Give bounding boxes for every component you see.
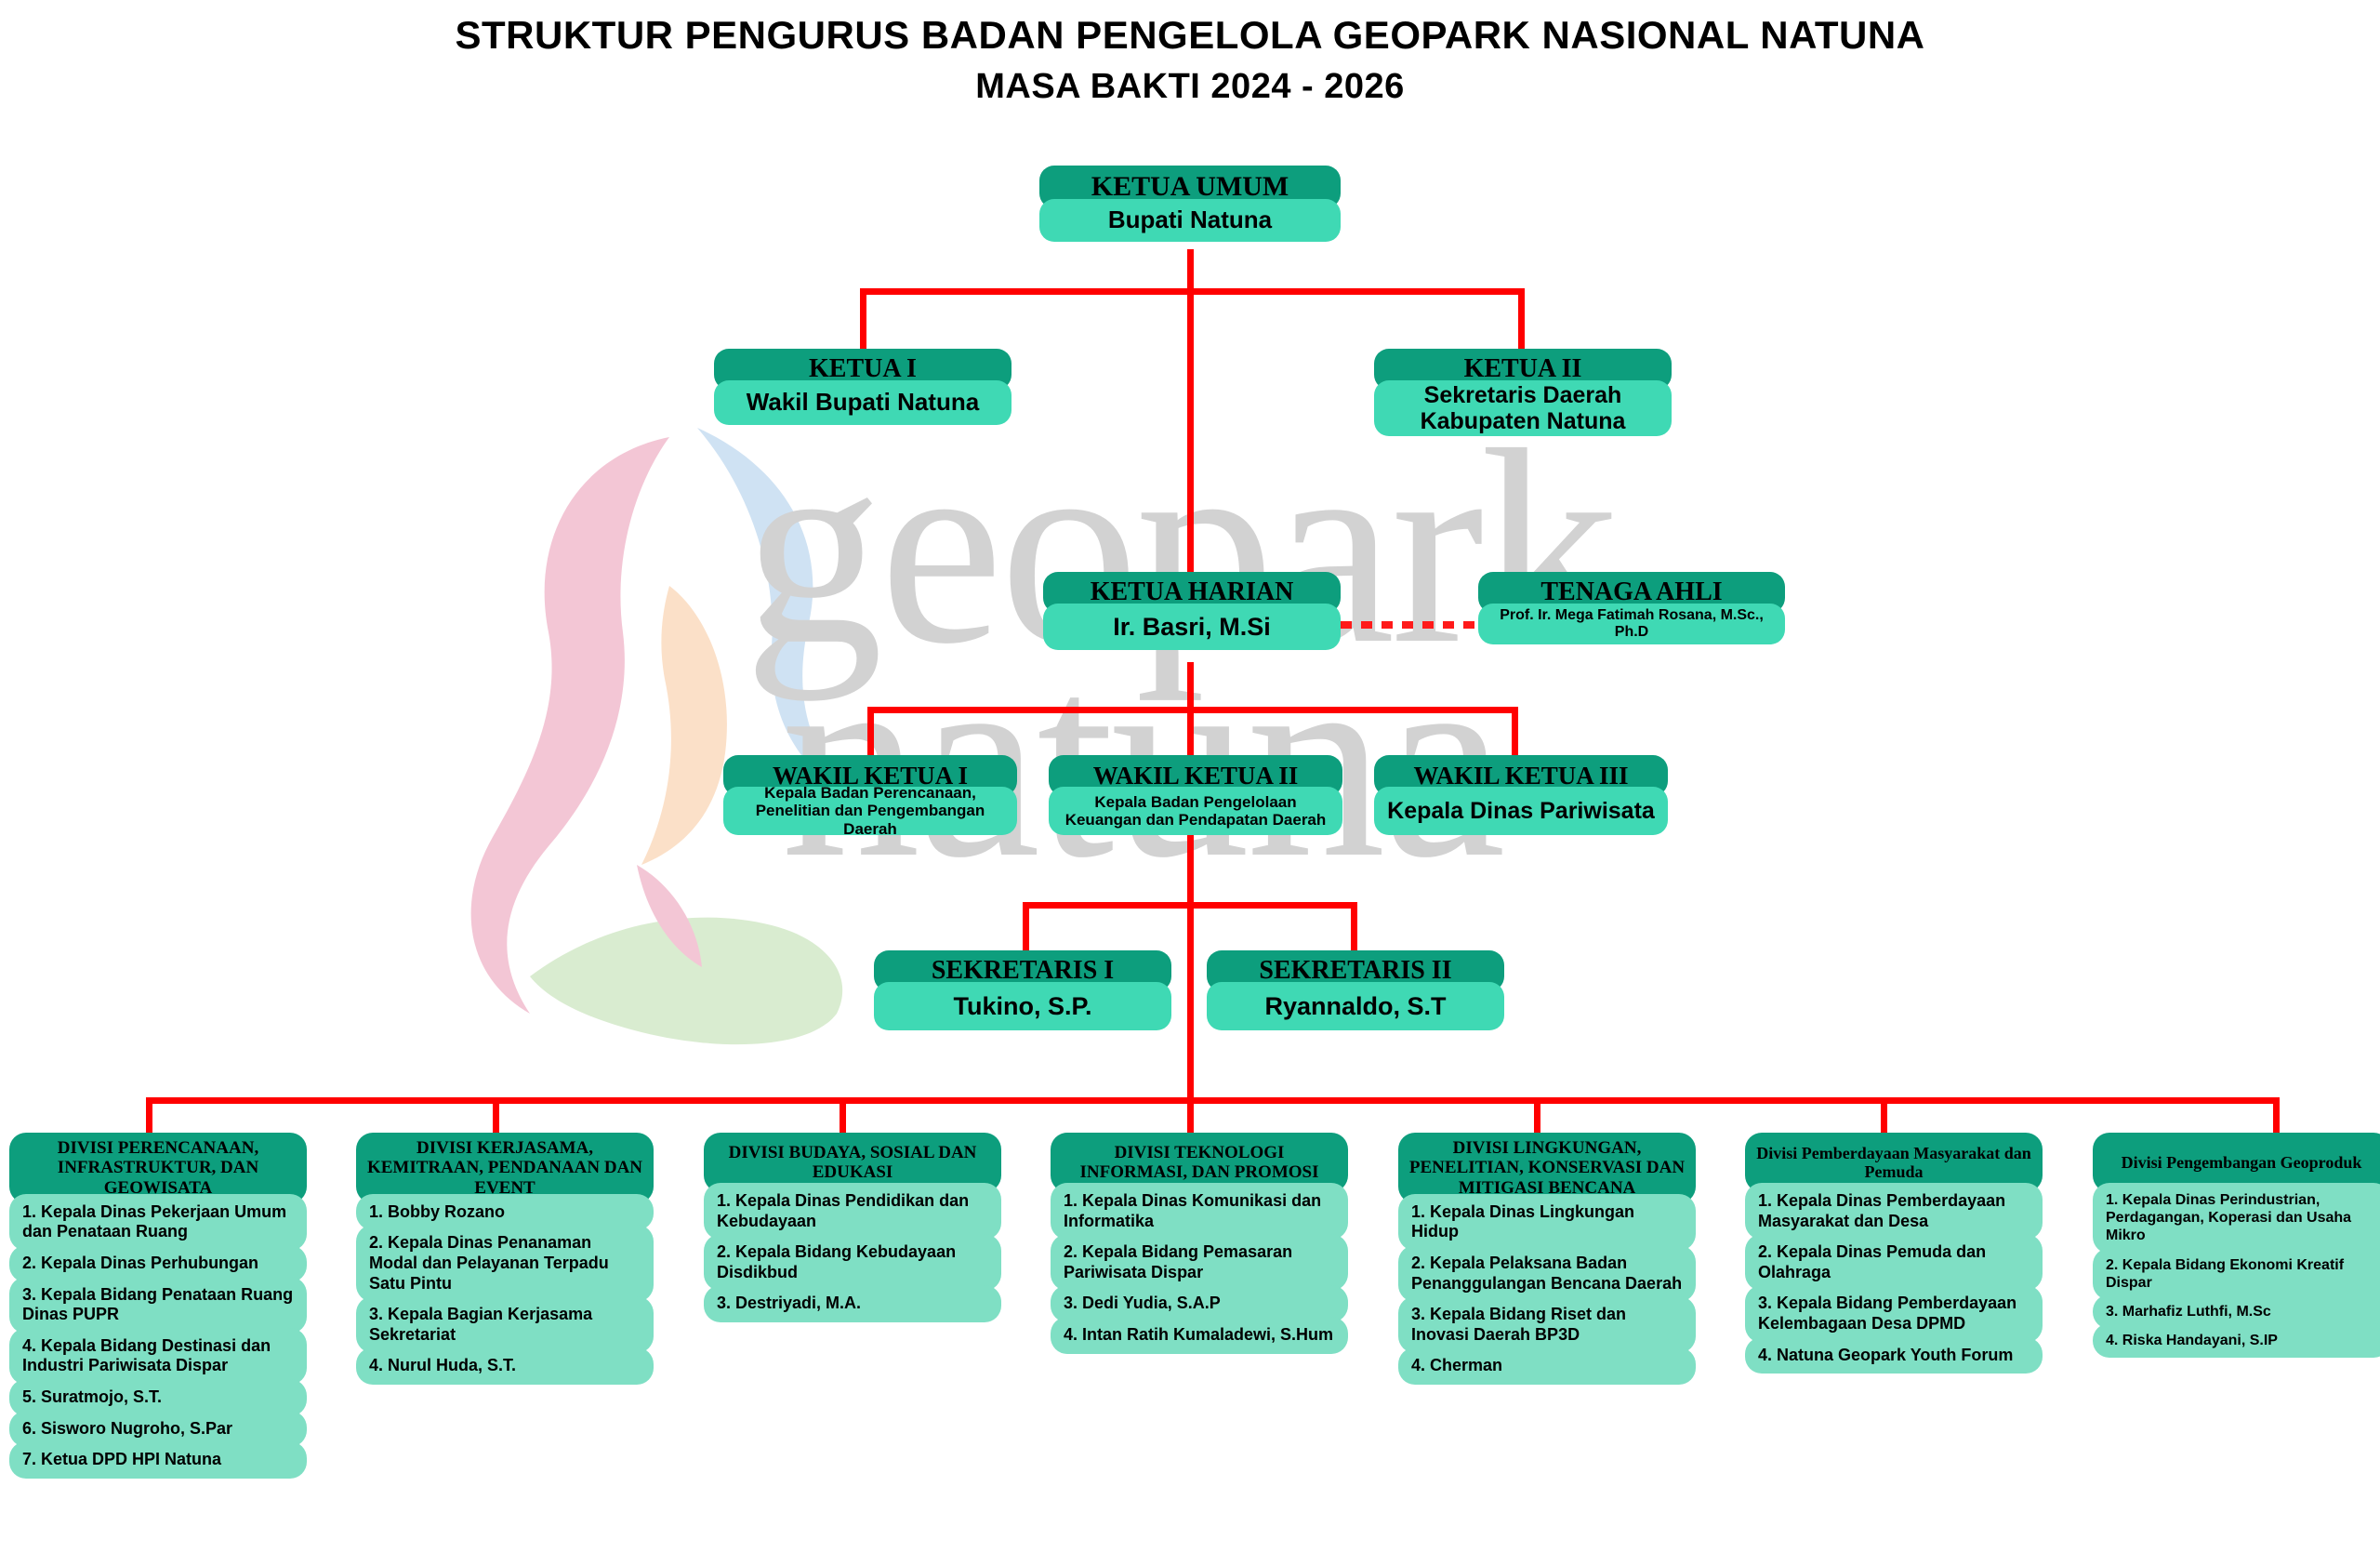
connector-spine-to-divisions <box>1187 953 1194 1097</box>
division-kerjasama[interactable]: DIVISI KERJASAMA, KEMITRAAN, PENDANAAN D… <box>356 1133 654 1379</box>
list-item: 3. Destriyadi, M.A. <box>704 1285 1001 1322</box>
node-sekretaris-1-name: Tukino, S.P. <box>874 982 1171 1030</box>
node-ketua-umum-name: Bupati Natuna <box>1039 199 1341 242</box>
list-item: 1. Kepala Dinas Komunikasi dan Informati… <box>1051 1183 1348 1240</box>
list-item: 4. Intan Ratih Kumaladewi, S.Hum <box>1051 1317 1348 1354</box>
division-perencanaan[interactable]: DIVISI PERENCANAAN, INFRASTRUKTUR, DAN G… <box>9 1133 307 1473</box>
node-wakil-ketua-2[interactable]: WAKIL KETUA II Kepala Badan Pengelolaan … <box>1049 755 1342 835</box>
page-subtitle: MASA BAKTI 2024 - 2026 <box>0 67 2380 107</box>
connector-wakil-3-down <box>1512 707 1518 758</box>
list-item: 3. Kepala Bidang Riset dan Inovasi Daera… <box>1398 1296 1696 1353</box>
list-item: 1. Kepala Dinas Pemberdayaan Masyarakat … <box>1745 1183 2043 1240</box>
list-item: 4. Kepala Bidang Destinasi dan Industri … <box>9 1328 307 1385</box>
list-item: 4. Nurul Huda, S.T. <box>356 1347 654 1385</box>
list-item: 1. Kepala Dinas Pekerjaan Umum dan Penat… <box>9 1194 307 1251</box>
division-lingkungan[interactable]: DIVISI LINGKUNGAN, PENELITIAN, KONSERVAS… <box>1398 1133 1696 1379</box>
node-wakil-ketua-2-name: Kepala Badan Pengelolaan Keuangan dan Pe… <box>1049 787 1342 835</box>
node-sekretaris-2-name: Ryannaldo, S.T <box>1207 982 1504 1030</box>
node-ketua-2-name: Sekretaris Daerah Kabupaten Natuna <box>1374 380 1672 436</box>
node-ketua-2[interactable]: KETUA II Sekretaris Daerah Kabupaten Nat… <box>1374 349 1672 436</box>
division-lingkungan-title: DIVISI LINGKUNGAN, PENELITIAN, KONSERVAS… <box>1398 1133 1696 1203</box>
connector-sekretaris-1-down <box>1023 902 1029 953</box>
list-item: 2. Kepala Bidang Kebudayaan Disdikbud <box>704 1234 1001 1291</box>
division-lingkungan-member-list: 1. Kepala Dinas Lingkungan Hidup2. Kepal… <box>1398 1194 1696 1385</box>
node-ketua-harian-name: Ir. Basri, M.Si <box>1043 604 1341 650</box>
node-ketua-umum[interactable]: KETUA UMUM Bupati Natuna <box>1039 166 1341 242</box>
connector-harian-down <box>1187 662 1194 755</box>
connector-ketua-1-down <box>860 288 866 353</box>
node-ketua-harian[interactable]: KETUA HARIAN Ir. Basri, M.Si <box>1043 572 1341 650</box>
connector-bus-ketua <box>860 288 1525 295</box>
list-item: 2. Kepala Pelaksana Badan Penanggulangan… <box>1398 1245 1696 1302</box>
division-perencanaan-title: DIVISI PERENCANAAN, INFRASTRUKTUR, DAN G… <box>9 1133 307 1203</box>
division-geoproduk[interactable]: Divisi Pengembangan Geoproduk1. Kepala D… <box>2093 1133 2380 1352</box>
division-budaya[interactable]: DIVISI BUDAYA, SOSIAL DAN EDUKASI1. Kepa… <box>704 1133 1001 1317</box>
node-sekretaris-1[interactable]: SEKRETARIS I Tukino, S.P. <box>874 950 1171 1030</box>
node-ketua-1-name: Wakil Bupati Natuna <box>714 380 1011 425</box>
node-ketua-1[interactable]: KETUA I Wakil Bupati Natuna <box>714 349 1011 425</box>
division-budaya-member-list: 1. Kepala Dinas Pendidikan dan Kebudayaa… <box>704 1183 1001 1322</box>
connector-spine-to-harian <box>1187 288 1194 577</box>
division-pemberdayaan-member-list: 1. Kepala Dinas Pemberdayaan Masyarakat … <box>1745 1183 2043 1374</box>
node-wakil-ketua-3-name: Kepala Dinas Pariwisata <box>1374 787 1668 835</box>
list-item: 7. Ketua DPD HPI Natuna <box>9 1441 307 1479</box>
node-wakil-ketua-3[interactable]: WAKIL KETUA III Kepala Dinas Pariwisata <box>1374 755 1668 835</box>
list-item: 1. Kepala Dinas Pendidikan dan Kebudayaa… <box>704 1183 1001 1240</box>
list-item: 2. Kepala Dinas Penanaman Modal dan Pela… <box>356 1225 654 1302</box>
node-wakil-ketua-1[interactable]: WAKIL KETUA I Kepala Badan Perencanaan, … <box>723 755 1017 835</box>
node-wakil-ketua-1-name: Kepala Badan Perencanaan, Penelitian dan… <box>723 787 1017 835</box>
node-tenaga-ahli-name: Prof. Ir. Mega Fatimah Rosana, M.Sc., Ph… <box>1478 604 1785 644</box>
division-teknologi-member-list: 1. Kepala Dinas Komunikasi dan Informati… <box>1051 1183 1348 1354</box>
page-title: STRUKTUR PENGURUS BADAN PENGELOLA GEOPAR… <box>0 13 2380 58</box>
division-perencanaan-member-list: 1. Kepala Dinas Pekerjaan Umum dan Penat… <box>9 1194 307 1479</box>
connector-bus-wakil <box>867 707 1518 713</box>
list-item: 4. Natuna Geopark Youth Forum <box>1745 1337 2043 1374</box>
list-item: 3. Kepala Bidang Pemberdayaan Kelembagaa… <box>1745 1285 2043 1342</box>
division-kerjasama-member-list: 1. Bobby Rozano2. Kepala Dinas Penanaman… <box>356 1194 654 1385</box>
list-item: 2. Kepala Bidang Ekonomi Kreatif Dispar <box>2093 1248 2380 1300</box>
list-item: 2. Kepala Dinas Pemuda dan Olahraga <box>1745 1234 2043 1291</box>
connector-ketua-2-down <box>1518 288 1525 353</box>
list-item: 4. Riska Handayani, S.IP <box>2093 1323 2380 1358</box>
list-item: 1. Kepala Dinas Lingkungan Hidup <box>1398 1194 1696 1251</box>
list-item: 4. Cherman <box>1398 1347 1696 1385</box>
list-item: 1. Kepala Dinas Perindustrian, Perdagang… <box>2093 1183 2380 1254</box>
connector-sekretaris-2-down <box>1351 902 1357 953</box>
connector-bus-divisions <box>146 1097 2280 1104</box>
connector-wakil-1-down <box>867 707 874 758</box>
connector-dotted-tenaga-ahli <box>1341 621 1480 629</box>
list-item: 3. Kepala Bidang Penataan Ruang Dinas PU… <box>9 1277 307 1334</box>
division-pemberdayaan[interactable]: Divisi Pemberdayaan Masyarakat dan Pemud… <box>1745 1133 2043 1368</box>
division-geoproduk-member-list: 1. Kepala Dinas Perindustrian, Perdagang… <box>2093 1183 2380 1358</box>
org-chart-canvas: geopark natuna STRUKTUR PENGURUS BADAN P… <box>0 0 2380 1566</box>
node-tenaga-ahli[interactable]: TENAGA AHLI Prof. Ir. Mega Fatimah Rosan… <box>1478 572 1785 644</box>
division-teknologi[interactable]: DIVISI TEKNOLOGI INFORMASI, DAN PROMOSI1… <box>1051 1133 1348 1348</box>
connector-ketua-umum-down <box>1187 249 1194 291</box>
list-item: 3. Kepala Bagian Kerjasama Sekretariat <box>356 1296 654 1353</box>
node-sekretaris-2[interactable]: SEKRETARIS II Ryannaldo, S.T <box>1207 950 1504 1030</box>
list-item: 2. Kepala Bidang Pemasaran Pariwisata Di… <box>1051 1234 1348 1291</box>
connector-bus-sekretaris <box>1023 902 1357 909</box>
division-kerjasama-title: DIVISI KERJASAMA, KEMITRAAN, PENDANAAN D… <box>356 1133 654 1203</box>
